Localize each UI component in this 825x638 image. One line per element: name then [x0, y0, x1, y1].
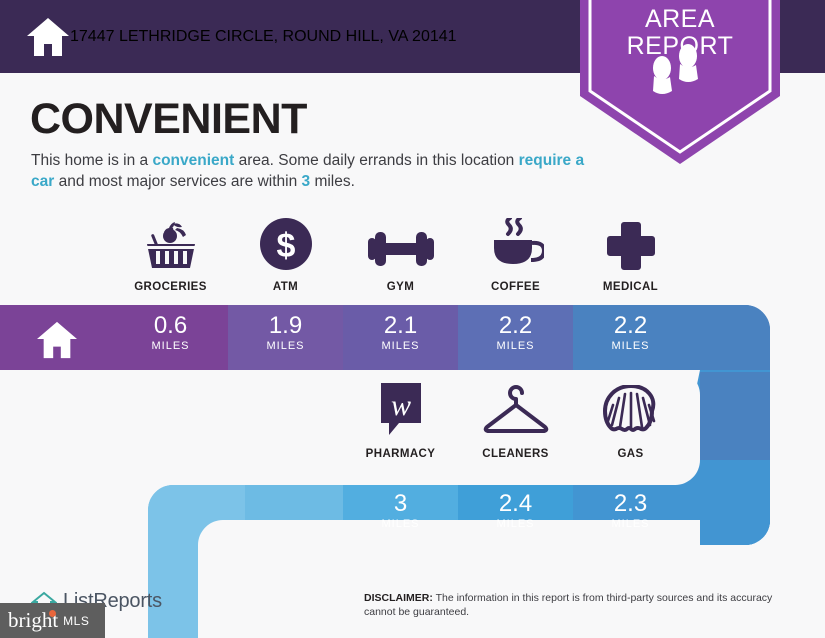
distance-groceries: 0.6 MILES [113, 313, 228, 352]
distance-unit: MILES [458, 518, 573, 530]
distance-atm: 1.9 MILES [228, 313, 343, 352]
medical-cross-icon [607, 218, 655, 270]
distance-value: 2.3 [573, 491, 688, 517]
distance-medical: 2.2 MILES [573, 313, 688, 352]
bright-wordmark: bright [8, 608, 58, 633]
mls-text: MLS [63, 614, 89, 628]
amenity-medical[interactable]: MEDICAL [573, 218, 688, 293]
page-subtitle: This home is in a convenient area. Some … [31, 150, 591, 192]
area-report-label: AREA REPORT [580, 6, 780, 60]
amenity-label: COFFEE [491, 281, 540, 293]
amenity-label: GAS [617, 448, 643, 460]
subtitle-highlight-3: 3 [302, 173, 311, 190]
distance-value: 2.4 [458, 491, 573, 517]
amenity-atm[interactable]: $ ATM [228, 218, 343, 293]
amenity-gym[interactable]: GYM [343, 218, 458, 293]
distance-value: 0.6 [113, 313, 228, 339]
svg-text:$: $ [276, 227, 295, 265]
amenity-label: MEDICAL [603, 281, 658, 293]
distance-value: 3 [343, 491, 458, 517]
amenity-label: GROCERIES [134, 281, 207, 293]
amenity-groceries[interactable]: GROCERIES [113, 218, 228, 293]
distance-value: 2.2 [573, 313, 688, 339]
disclaimer-label: DISCLAIMER: [364, 592, 433, 604]
amenity-label: GYM [387, 281, 414, 293]
subtitle-part-2: area. Some daily errands in this locatio… [234, 152, 518, 169]
distance-value: 1.9 [228, 313, 343, 339]
distances-row-2: 3 MILES 2.4 MILES 2.3 MILES [343, 491, 688, 530]
distance-unit: MILES [113, 340, 228, 352]
coffee-cup-icon [488, 218, 544, 270]
distance-coffee: 2.2 MILES [458, 313, 573, 352]
ribbon-right-turn-upper [700, 372, 770, 460]
dollar-circle-icon: $ [260, 218, 312, 270]
amenity-gas[interactable]: GAS [573, 385, 688, 460]
walgreens-w-icon: w [377, 385, 425, 437]
distance-gym: 2.1 MILES [343, 313, 458, 352]
subtitle-part-4: miles. [310, 173, 355, 190]
house-icon [26, 16, 70, 58]
amenity-cleaners[interactable]: CLEANERS [458, 385, 573, 460]
property-address: 17447 LETHRIDGE CIRCLE, ROUND HILL, VA 2… [70, 28, 457, 46]
svg-text:w: w [390, 389, 410, 422]
ribbon-inner-notch-bottom [198, 520, 700, 638]
amenity-coffee[interactable]: COFFEE [458, 218, 573, 293]
distance-pharmacy: 3 MILES [343, 491, 458, 530]
disclaimer: DISCLAIMER: The information in this repo… [364, 592, 804, 619]
page-title: CONVENIENT [30, 95, 307, 144]
distance-unit: MILES [343, 340, 458, 352]
distance-unit: MILES [573, 518, 688, 530]
amenity-icons-row-1: GROCERIES $ ATM [113, 218, 688, 293]
distance-unit: MILES [343, 518, 458, 530]
area-report-badge: AREA REPORT [580, 0, 780, 179]
distance-gas: 2.3 MILES [573, 491, 688, 530]
subtitle-part-3: and most major services are within [54, 173, 301, 190]
area-report-page: 17447 LETHRIDGE CIRCLE, ROUND HILL, VA 2… [0, 0, 825, 638]
distance-value: 2.1 [343, 313, 458, 339]
subtitle-highlight-1: convenient [152, 152, 234, 169]
distances-row-1: 0.6 MILES 1.9 MILES 2.1 MILES 2.2 MILES … [113, 313, 688, 352]
amenity-icons-row-2: w PHARMACY CLEANERS [343, 385, 688, 460]
shell-logo-icon [603, 385, 659, 437]
subtitle-part-1: This home is in a [31, 152, 152, 169]
dumbbell-icon [368, 218, 434, 270]
clothes-hanger-icon [481, 385, 551, 437]
distance-cleaners: 2.4 MILES [458, 491, 573, 530]
distance-unit: MILES [458, 340, 573, 352]
amenity-pharmacy[interactable]: w PHARMACY [343, 385, 458, 460]
pennant-line-1: AREA [580, 6, 780, 33]
amenity-label: PHARMACY [366, 448, 436, 460]
distance-unit: MILES [573, 340, 688, 352]
distance-unit: MILES [228, 340, 343, 352]
house-icon [35, 320, 79, 360]
bright-mls-badge[interactable]: bright MLS [0, 603, 105, 638]
amenity-label: ATM [273, 281, 298, 293]
grocery-basket-icon [143, 218, 199, 270]
pennant-line-2: REPORT [580, 33, 780, 60]
amenity-label: CLEANERS [482, 448, 548, 460]
distance-value: 2.2 [458, 313, 573, 339]
